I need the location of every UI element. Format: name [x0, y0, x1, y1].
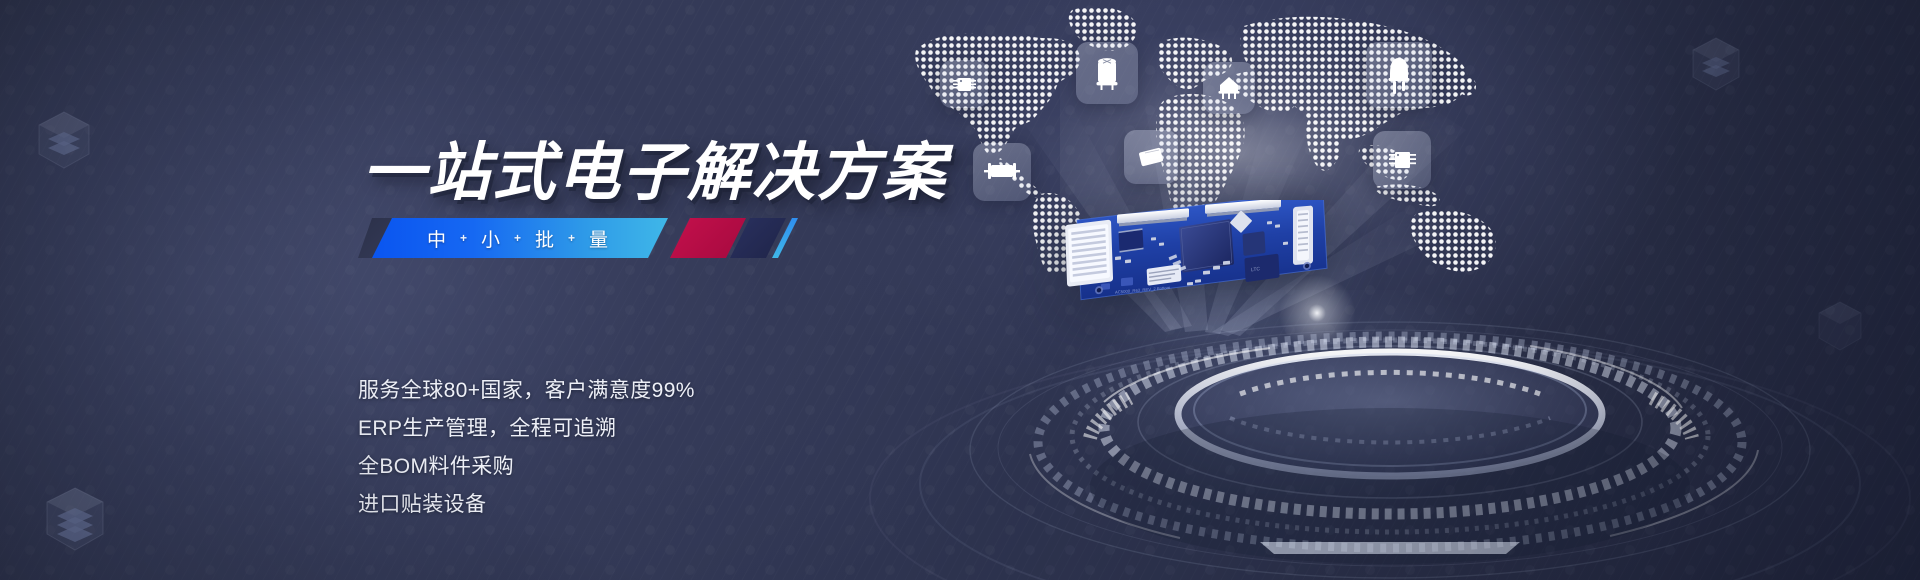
- hero-visual: LTC: [880, 0, 1920, 580]
- ic-chip-icon: [940, 60, 988, 108]
- ribbon-word-1: 中: [427, 225, 447, 252]
- feature-item-1: 服务全球80+国家，客户满意度99%: [358, 372, 695, 410]
- ribbon-word-2: 小: [481, 225, 501, 252]
- feature-item-2: ERP生产管理，全程可追溯: [358, 410, 695, 448]
- ribbon-plus-3: +: [568, 231, 576, 245]
- feature-item-3: 全BOM料件采购: [358, 448, 695, 486]
- hero-banner: LTC: [0, 0, 1920, 580]
- capacitor-icon: [1076, 42, 1138, 104]
- ribbon-text: 中 + 小 + 批 + 量: [427, 225, 609, 252]
- holographic-hud-platform: [840, 300, 1920, 580]
- page-title: 一站式电子解决方案: [362, 122, 947, 213]
- ribbon-word-3: 批: [535, 225, 555, 252]
- tagline-ribbon: 中 + 小 + 批 + 量: [358, 218, 798, 258]
- hero-copy: 一站式电子解决方案 中 + 小 + 批 + 量 服务全球80+国家，客户满意度9…: [0, 0, 900, 580]
- feature-item-4: 进口贴装设备: [358, 486, 695, 524]
- ribbon-plus-2: +: [514, 231, 522, 245]
- ribbon-word-4: 量: [589, 225, 609, 252]
- resistor-icon: [973, 143, 1031, 201]
- led-icon: [1366, 42, 1432, 108]
- ribbon-main-bar: 中 + 小 + 批 + 量: [372, 218, 668, 258]
- feature-list: 服务全球80+国家，客户满意度99% ERP生产管理，全程可追溯 全BOM料件采…: [358, 372, 695, 524]
- smd-chip-icon: [1124, 130, 1178, 184]
- ribbon-plus-1: +: [460, 231, 468, 245]
- transistor-icon: [1203, 62, 1255, 114]
- soic-chip-icon: [1373, 131, 1431, 189]
